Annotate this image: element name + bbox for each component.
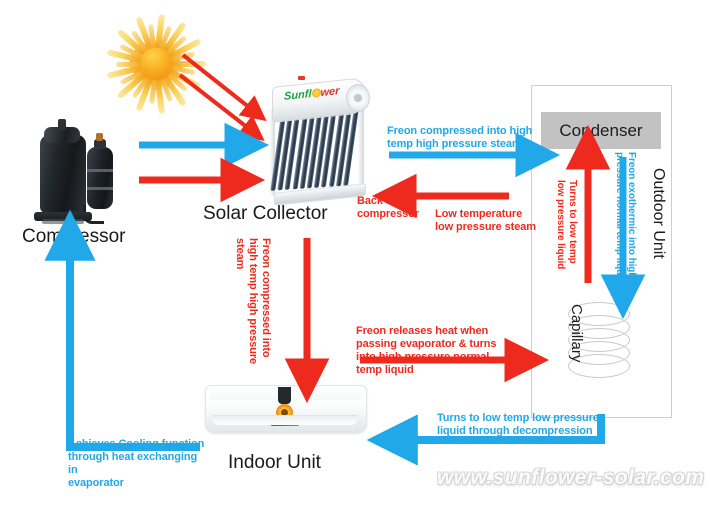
annotation-back-to-compressor: Back to compressor xyxy=(357,195,417,221)
compressor-label: Compressor xyxy=(22,226,125,248)
accumulator-band xyxy=(87,169,113,172)
accumulator-band xyxy=(87,187,113,190)
condenser-box: Condenser xyxy=(541,112,661,149)
compressor-nozzle xyxy=(58,119,66,130)
brand-text-last: wer xyxy=(321,85,340,99)
capillary-label: Capillary xyxy=(568,304,585,362)
indoor-unit-vent xyxy=(213,415,357,425)
compressor-image xyxy=(34,117,134,227)
watermark: www.sunflower-solar.com xyxy=(437,466,704,490)
annotation-collector-to-condenser: Freon compressed into high temp high pre… xyxy=(387,125,537,151)
accumulator-cap xyxy=(96,133,103,141)
outdoor-unit-label: Outdoor Unit xyxy=(649,168,667,259)
solar-collector-label: Solar Collector xyxy=(203,203,328,225)
indoor-unit-display xyxy=(278,387,291,404)
condenser-label: Condenser xyxy=(559,121,642,141)
annotation-low-temp-low-pressure-steam: Low temperature low pressure steam xyxy=(435,208,555,234)
annotation-collector-down-vertical: Freon compressed into high temp high pre… xyxy=(233,238,272,368)
sunflower-icon xyxy=(312,88,321,98)
indoor-unit-label: Indoor Unit xyxy=(228,452,321,474)
compressor-body xyxy=(40,135,86,213)
collector-end-cap xyxy=(346,84,370,112)
annotation-decompression: Turns to low temp low pressure liquid th… xyxy=(437,412,607,438)
compressor-accumulator xyxy=(87,147,113,209)
annotation-freon-exothermic: Freon exothermic into high pressure norm… xyxy=(613,152,637,302)
annotation-freon-releases-heat: Freon releases heat when passing evapora… xyxy=(356,325,506,377)
annotation-achieves-cooling: Achieves Cooling function through heat e… xyxy=(68,438,208,490)
diagram-canvas: Compressor Sunflwer Solar Collector Indo… xyxy=(0,0,719,513)
indoor-unit-image xyxy=(205,385,365,441)
annotation-turns-to-low-temp-liquid: Turns to low temp low pressure liquid xyxy=(554,180,578,295)
sun-icon xyxy=(104,12,208,116)
compressor-base-plate xyxy=(42,219,84,224)
solar-collector-image: Sunflwer xyxy=(262,78,372,208)
collector-red-tip xyxy=(298,76,305,80)
